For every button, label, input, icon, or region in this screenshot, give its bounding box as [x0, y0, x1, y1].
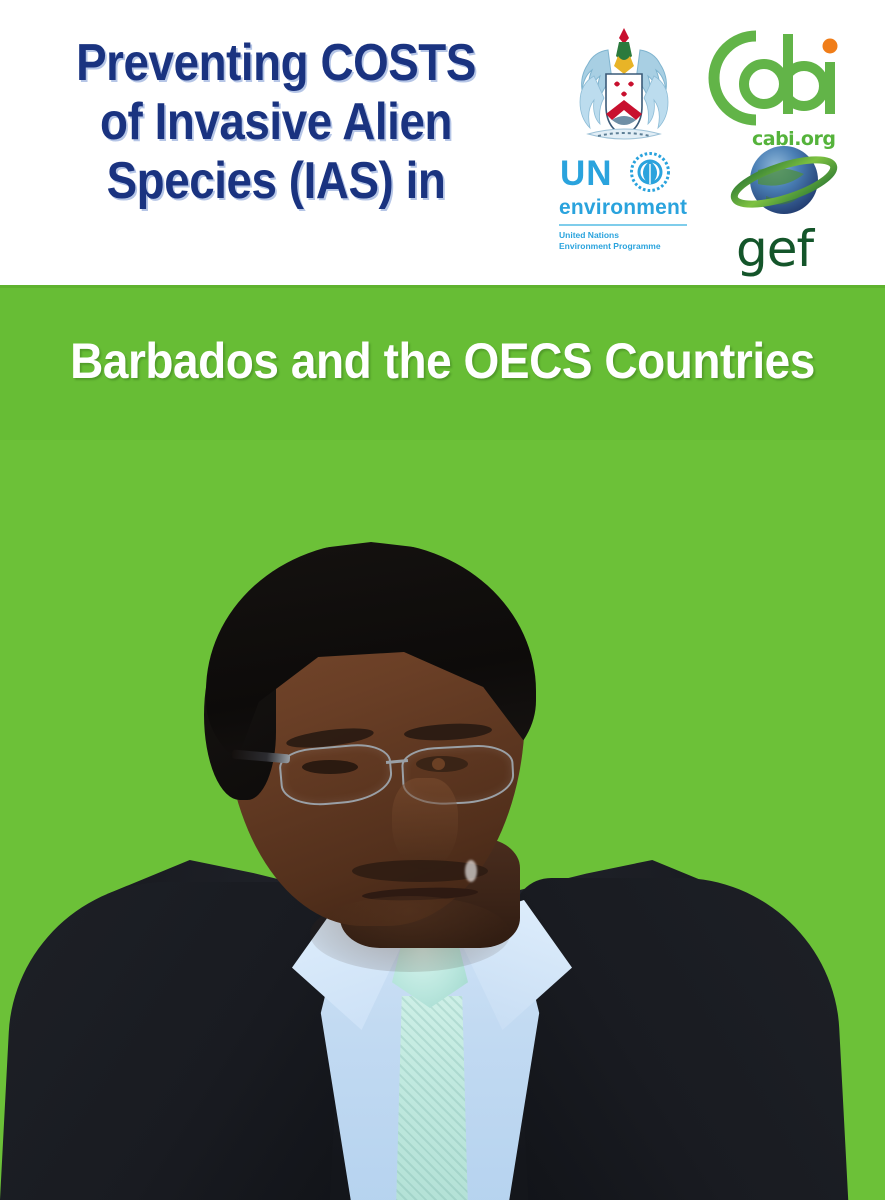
un-subtitle-line-1: United Nations: [559, 230, 693, 241]
nose: [392, 778, 458, 870]
un-emblem-icon: [630, 152, 670, 192]
header-band: Preventing COSTS of Invasive Alien Speci…: [0, 0, 885, 285]
banner-top-edge: [0, 285, 885, 288]
eyeglass-lens-left: [278, 741, 395, 809]
gef-globe-icon: [714, 134, 854, 234]
gef-wordmark: gef: [736, 220, 813, 278]
un-environment-logo: UN environment United Nations Environmen…: [556, 148, 696, 268]
un-wordmark: UN: [560, 154, 613, 194]
portrait-photo: [0, 430, 885, 1200]
title-line-3: Species (IAS) in: [38, 152, 513, 211]
un-divider: [559, 224, 687, 226]
lip-highlight: [465, 860, 477, 882]
title-line-1: Preventing COSTS: [38, 34, 513, 93]
necktie-body: [396, 996, 468, 1200]
poster-subtitle: Barbados and the OECS Countries: [35, 336, 849, 386]
un-subtitle: United Nations Environment Programme: [559, 230, 693, 253]
un-subtitle-line-2: Environment Programme: [559, 241, 693, 252]
title-line-2: of Invasive Alien: [38, 93, 513, 152]
un-environment-wordmark: environment: [559, 196, 687, 220]
coat-of-arms-icon: [564, 24, 684, 152]
poster-page: Preventing COSTS of Invasive Alien Speci…: [0, 0, 885, 1200]
suit-shoulder-left: [0, 882, 347, 1200]
cabi-icon: [706, 28, 856, 128]
page-title: Preventing COSTS of Invasive Alien Speci…: [6, 34, 546, 210]
suit-shoulder-right: [511, 878, 848, 1200]
coat-of-arms-logo: [564, 24, 684, 152]
gef-logo: gef: [714, 134, 854, 274]
logo-group: cabi.org UN environment United Nations E…: [556, 22, 876, 272]
chin: [310, 896, 510, 972]
